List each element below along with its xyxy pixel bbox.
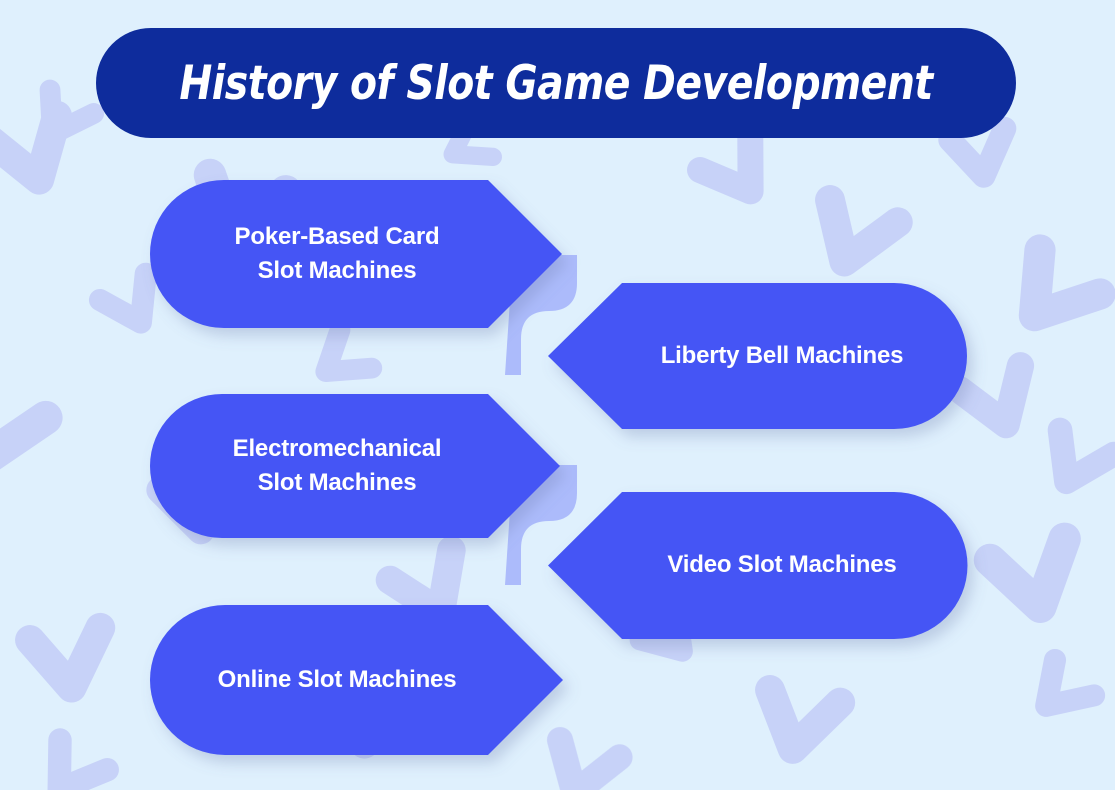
page-title-banner: History of Slot Game Development bbox=[96, 28, 1016, 138]
page-title: History of Slot Game Development bbox=[179, 56, 932, 111]
flow-step-electromechanical-slot-machines[interactable]: Electromechanical Slot Machines bbox=[150, 394, 568, 538]
flow-step-label: Liberty Bell Machines bbox=[548, 339, 968, 373]
flow-step-label: Poker-Based Card Slot Machines bbox=[150, 220, 568, 288]
flow-step-label: Video Slot Machines bbox=[548, 548, 968, 582]
flow-step-label: Online Slot Machines bbox=[150, 663, 568, 697]
flow-step-video-slot-machines[interactable]: Video Slot Machines bbox=[548, 492, 968, 639]
flow-step-online-slot-machines[interactable]: Online Slot Machines bbox=[150, 605, 568, 755]
flow-step-liberty-bell-machines[interactable]: Liberty Bell Machines bbox=[548, 283, 968, 429]
infographic-canvas: History of Slot Game Development Poker-B… bbox=[0, 0, 1115, 790]
flow-step-poker-based-card-slot-machines[interactable]: Poker-Based Card Slot Machines bbox=[150, 180, 568, 328]
flow-step-label: Electromechanical Slot Machines bbox=[150, 432, 568, 500]
